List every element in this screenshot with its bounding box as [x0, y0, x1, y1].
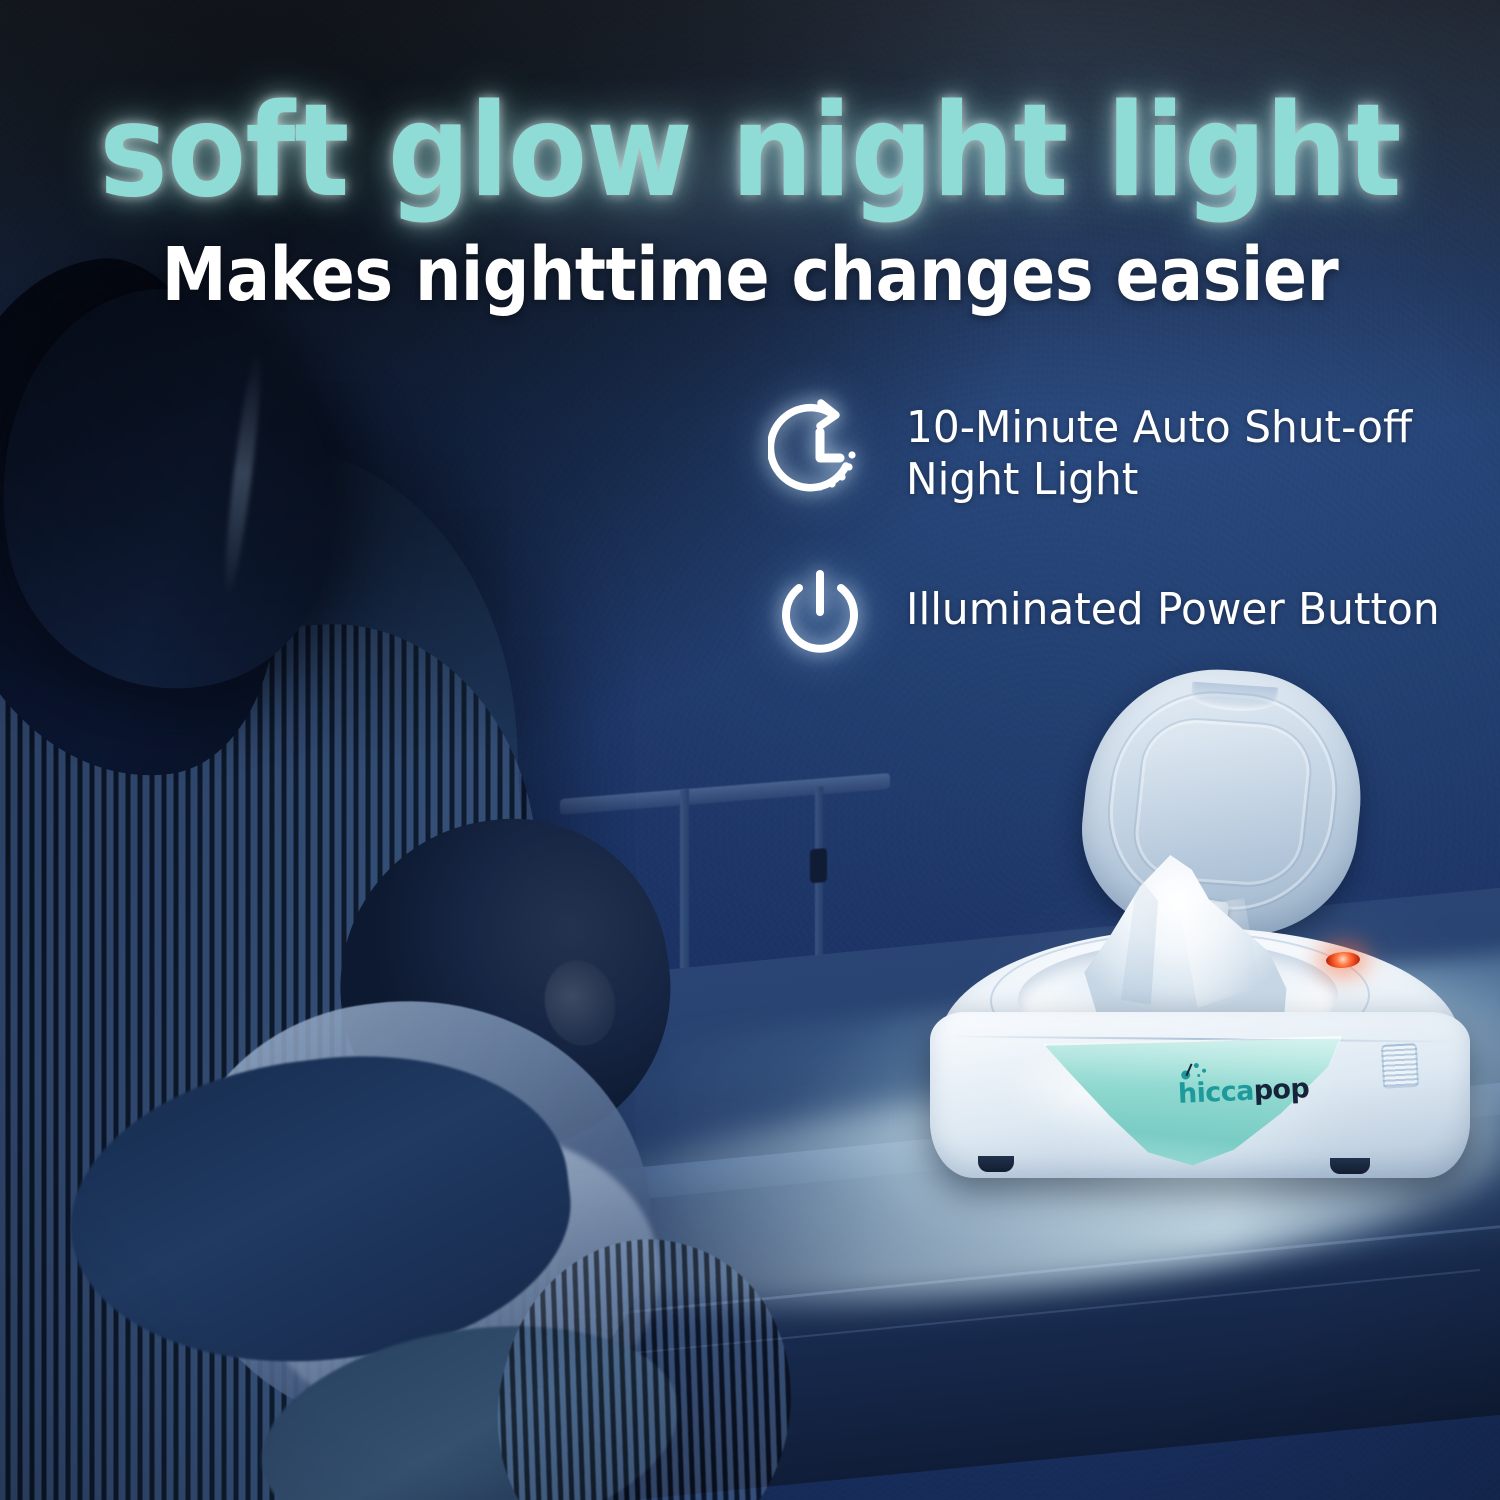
page-subtitle: Makes nighttime changes easier	[90, 238, 1410, 312]
feature-label: 10-Minute Auto Shut-off Night Light	[906, 398, 1412, 506]
auto-shutoff-timer-icon	[768, 398, 872, 502]
power-button-icon	[768, 562, 872, 666]
product-marketing-image: hicca pop soft glow night light Makes ni…	[0, 0, 1500, 1500]
page-title: soft glow night light	[75, 88, 1425, 216]
feature-list: 10-Minute Auto Shut-off Night Light Illu…	[768, 398, 1468, 666]
feature-item-power-button: Illuminated Power Button	[768, 562, 1468, 666]
feature-label: Illuminated Power Button	[906, 562, 1440, 636]
feature-item-auto-shutoff: 10-Minute Auto Shut-off Night Light	[768, 398, 1468, 506]
